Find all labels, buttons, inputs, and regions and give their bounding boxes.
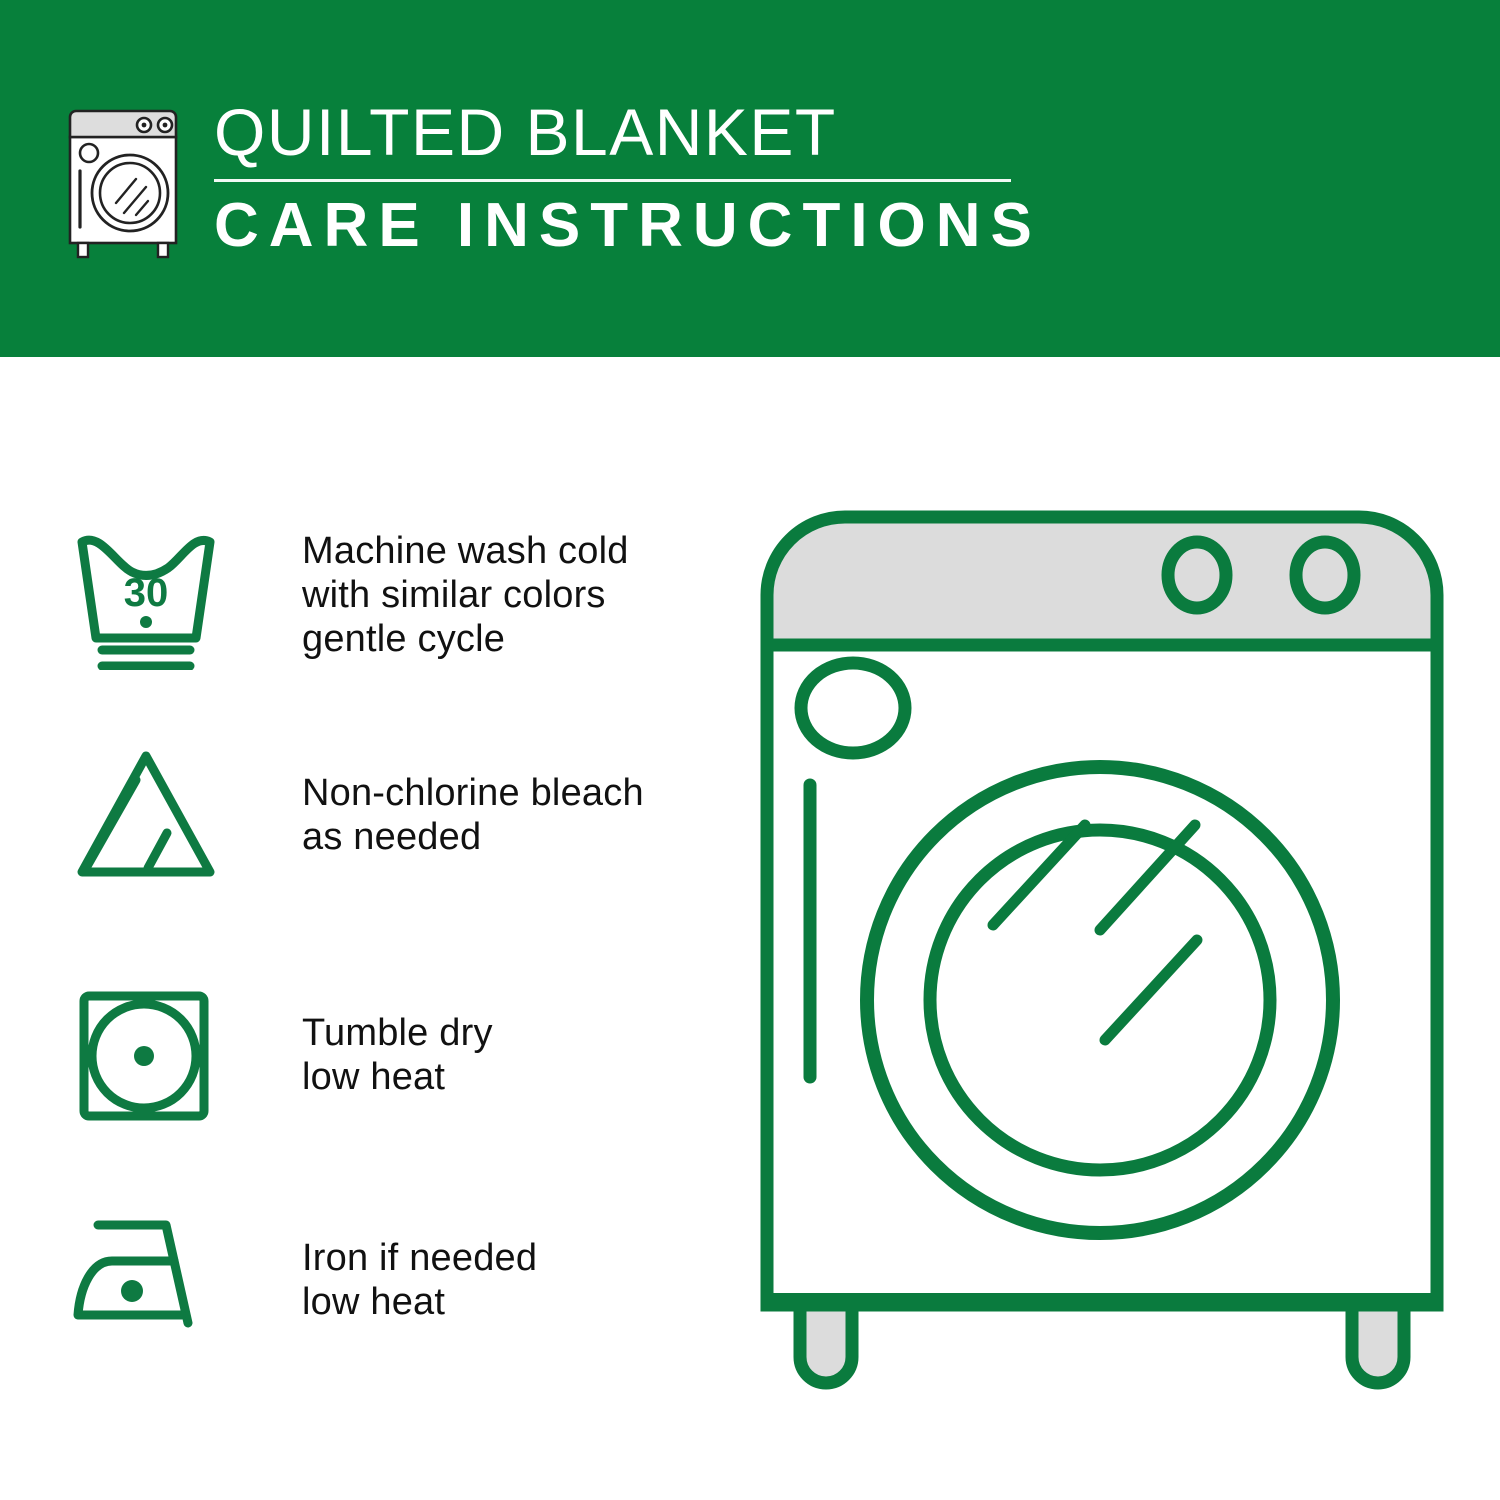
header-title-block: QUILTED BLANKET CARE INSTRUCTIONS [214,95,1042,262]
iron-heat-dot-icon [121,1280,143,1302]
care-instructions-page: QUILTED BLANKET CARE INSTRUCTIONS 30 [0,0,1500,1500]
care-label-line: Tumble dry [302,1011,493,1055]
machine-leg-left [800,1305,852,1383]
control-knob-2[interactable] [1296,542,1354,608]
bleach-triangle-non-chlorine-icon [70,740,238,890]
front-load-washing-machine-illustration [745,495,1460,1425]
care-label-line: gentle cycle [302,617,629,661]
wash-tub-30-gentle-icon: 30 [70,520,238,670]
iron-low-heat-icon [70,1205,238,1355]
header-content: QUILTED BLANKET CARE INSTRUCTIONS [62,95,1042,263]
care-label-line: low heat [302,1280,537,1324]
care-label-tumble-dry: Tumble dry low heat [302,1011,493,1099]
care-symbol-slot [70,980,238,1130]
tumble-dry-low-heat-icon [70,980,238,1130]
machine-leg-right [1352,1305,1404,1383]
page-subtitle: CARE INSTRUCTIONS [214,190,1042,262]
page-title: QUILTED BLANKET [214,95,1042,169]
care-symbol-slot [70,1205,238,1355]
title-divider [214,179,1011,182]
care-label-line: low heat [302,1055,493,1099]
header-banner: QUILTED BLANKET CARE INSTRUCTIONS [0,0,1500,357]
dry-heat-dot-icon [134,1046,154,1066]
wash-dot-icon [140,616,152,628]
care-label-machine-wash: Machine wash cold with similar colors ge… [302,529,629,661]
care-label-line: with similar colors [302,573,629,617]
care-label-line: as needed [302,815,644,859]
care-label-bleach: Non-chlorine bleach as needed [302,771,644,859]
care-symbol-slot: 30 [70,520,238,670]
care-label-line: Non-chlorine bleach [302,771,644,815]
care-label-iron: Iron if needed low heat [302,1236,537,1324]
machine-base-bar [767,1293,1437,1307]
care-row-iron: Iron if needed low heat [70,1205,710,1355]
washing-machine-icon [62,103,192,263]
door-inner-ring [930,830,1270,1170]
care-row-tumble-dry: Tumble dry low heat [70,980,710,1130]
control-knob-1[interactable] [1168,542,1226,608]
care-row-machine-wash: 30 Machine wash cold with similar colors… [70,520,710,670]
care-label-line: Machine wash cold [302,529,629,573]
care-row-bleach: Non-chlorine bleach as needed [70,740,710,890]
detergent-port-icon [801,663,905,753]
wash-temperature-value: 30 [124,571,169,615]
care-symbol-slot [70,740,238,890]
care-label-line: Iron if needed [302,1236,537,1280]
